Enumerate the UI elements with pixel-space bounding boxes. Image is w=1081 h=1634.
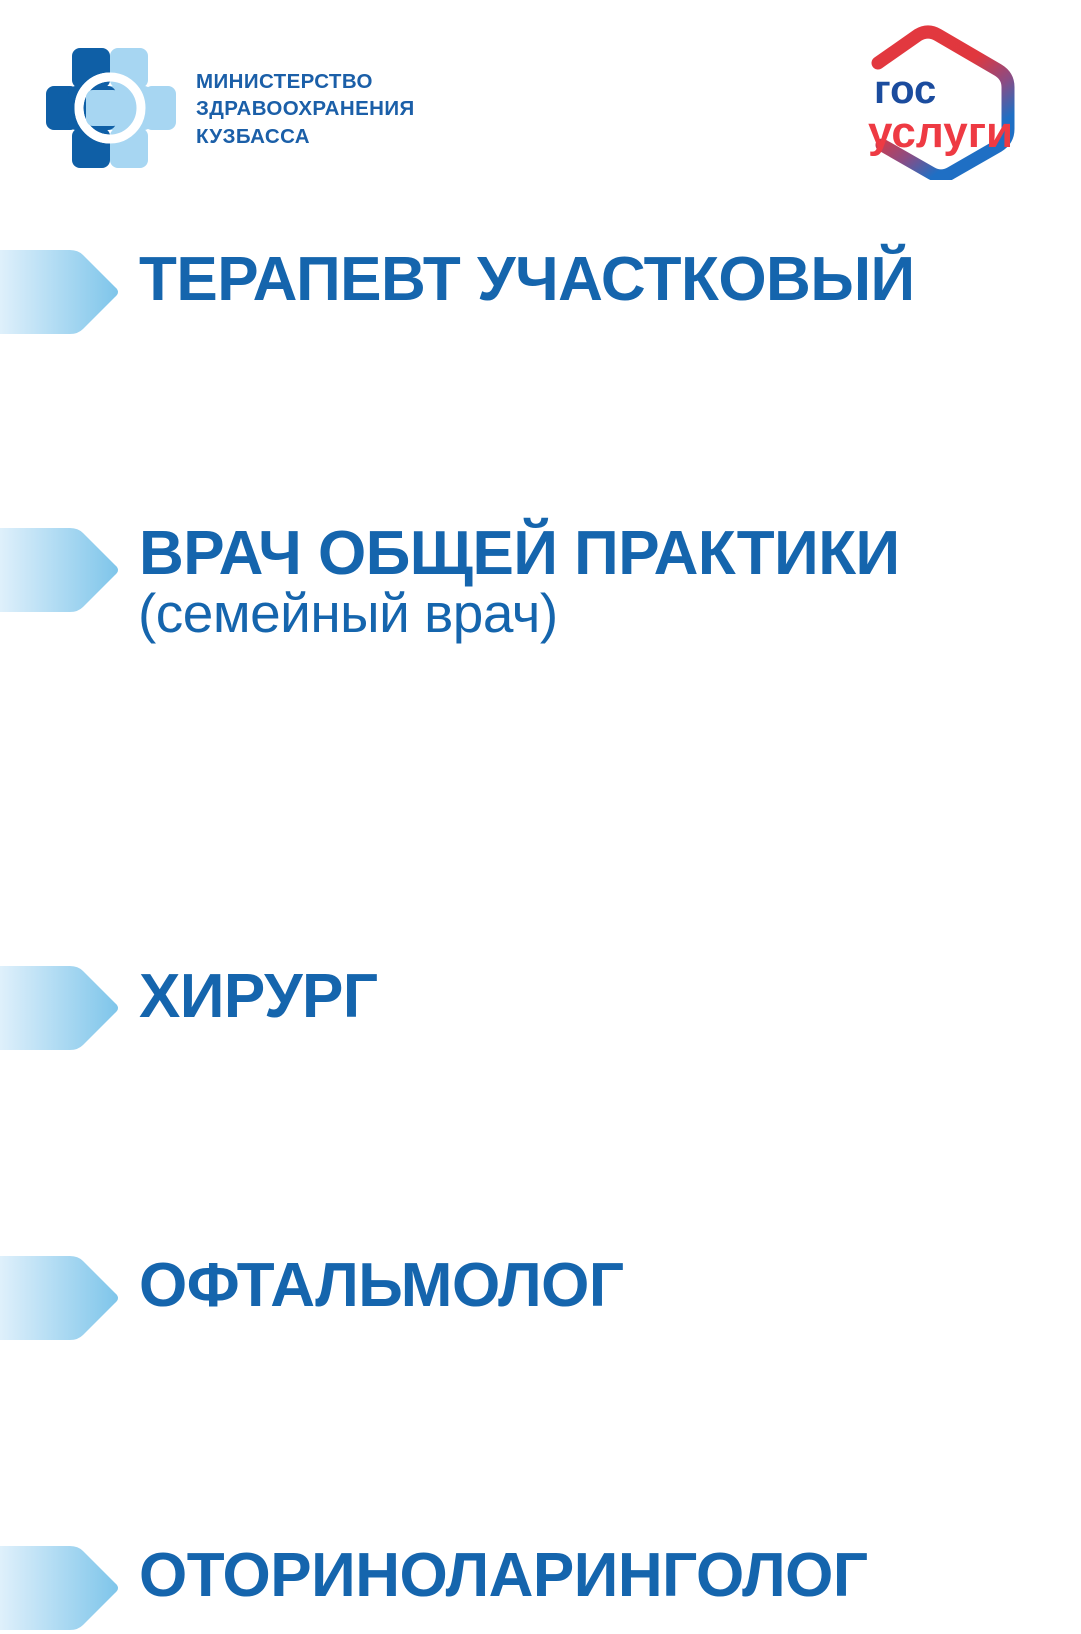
list-item[interactable]: ОТОРИНОЛАРИНГОЛОГ — [0, 877, 1081, 1022]
specialty-title: ТЕРАПЕВТ УЧАСТКОВЫЙ — [139, 250, 1073, 311]
specialty-title: ОТОРИНОЛАРИНГОЛОГ — [139, 1546, 1073, 1607]
specialty-title: ВРАЧ ОБЩЕЙ ПРАКТИКИ — [139, 524, 1073, 585]
specialty-title: ОФТАЛЬМОЛОГ — [139, 1256, 1073, 1317]
ministry-cross-icon — [44, 44, 178, 172]
list-item[interactable]: ТЕРАПЕВТ УЧАСТКОВЫЙ — [0, 232, 1081, 372]
gosuslugi-line2: услуги — [868, 108, 1013, 157]
arrow-bullet-icon — [0, 246, 120, 338]
ministry-wordmark: МИНИСТЕРСТВО ЗДРАВООХРАНЕНИЯ КУЗБАССА — [196, 66, 415, 149]
ministry-logo: МИНИСТЕРСТВО ЗДРАВООХРАНЕНИЯ КУЗБАССА — [44, 44, 415, 172]
list-item-text: ТЕРАПЕВТ УЧАСТКОВЫЙ — [139, 250, 1073, 311]
list-item-text: ОФТАЛЬМОЛОГ — [139, 1256, 1073, 1317]
list-item-text: ОТОРИНОЛАРИНГОЛОГ — [139, 1546, 1073, 1607]
arrow-bullet-icon — [0, 1252, 120, 1344]
arrow-bullet-icon — [0, 1542, 120, 1634]
specialty-list: ТЕРАПЕВТ УЧАСТКОВЫЙ ВРАЧ ОБЩЕЙ ПРАКТИКИ … — [0, 232, 1081, 1032]
list-item[interactable]: ОФТАЛЬМОЛОГ — [0, 732, 1081, 877]
gosuslugi-logo: гос услуги — [856, 25, 1026, 180]
gosuslugi-line1: гос — [874, 68, 936, 112]
list-item[interactable]: ХИРУРГ — [0, 587, 1081, 732]
page-header: МИНИСТЕРСТВО ЗДРАВООХРАНЕНИЯ КУЗБАССА го… — [0, 0, 1081, 200]
list-item[interactable]: ВРАЧ ОБЩЕЙ ПРАКТИКИ (семейный врач) — [0, 372, 1081, 587]
